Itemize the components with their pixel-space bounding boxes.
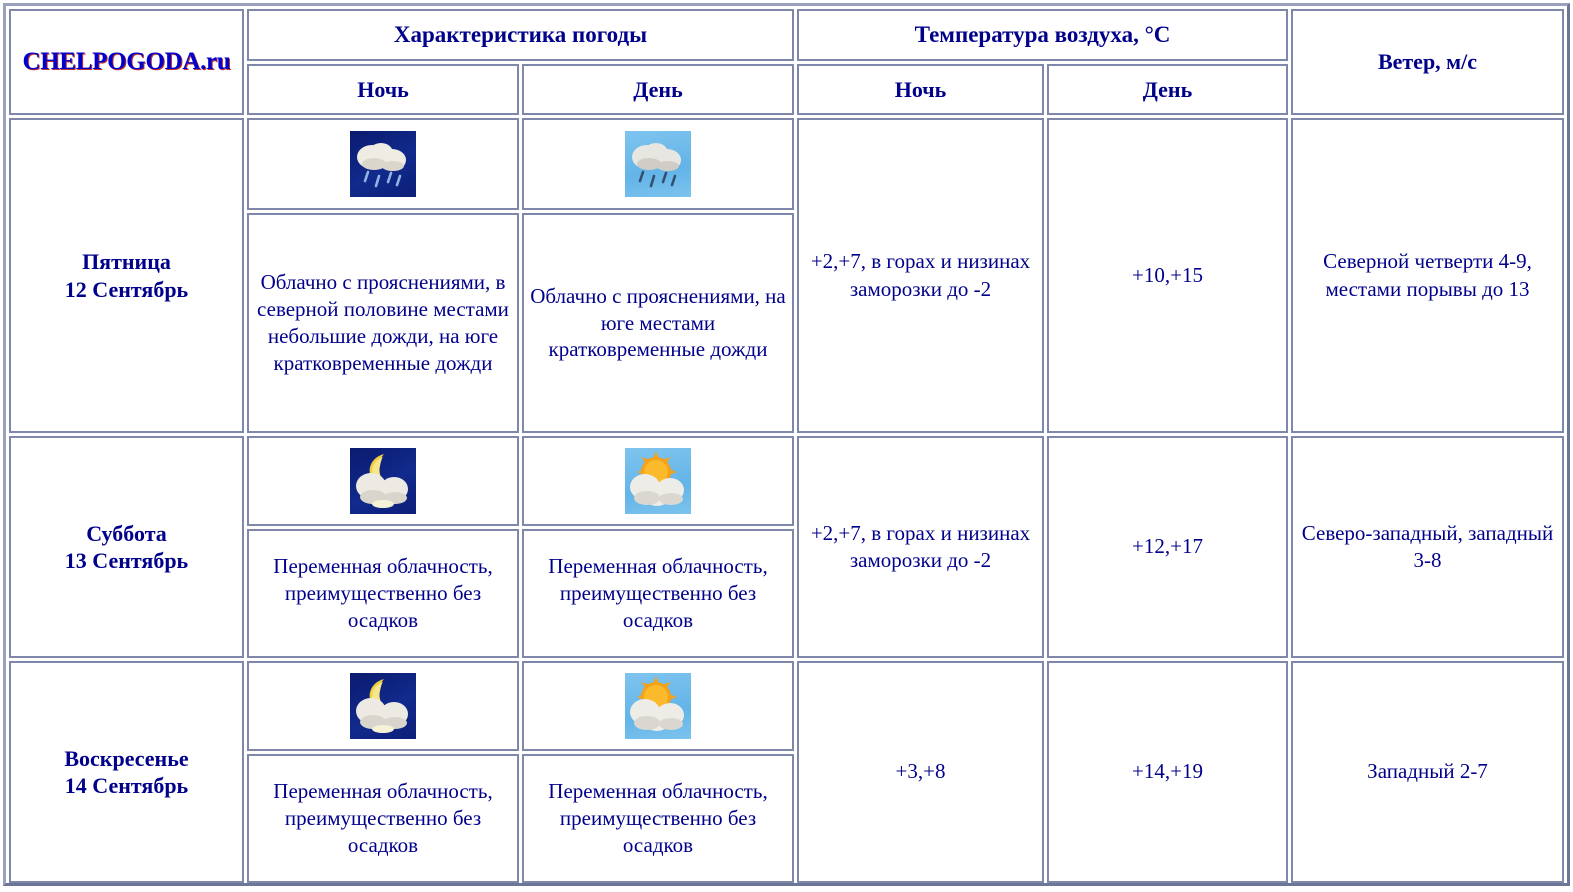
header-weather-characteristic: Характеристика погоды (247, 9, 794, 61)
temperature-night: +2,+7, в горах и низинах заморозки до -2 (797, 118, 1044, 433)
temperature-night: +2,+7, в горах и низинах заморозки до -2 (797, 436, 1044, 658)
temperature-day: +10,+15 (1047, 118, 1288, 433)
day-icon-cell (522, 118, 794, 210)
day-weather-group: Переменная облачность, преимущественно б… (522, 661, 794, 883)
night-weather-group: Переменная облачность, преимущественно б… (247, 661, 519, 883)
day-icon-cell (522, 436, 794, 526)
cloudy-rain-day-icon (625, 131, 691, 197)
day-weather-group: Облачно с прояснениями, на юге местами к… (522, 118, 794, 433)
partly-cloudy-day-icon (625, 673, 691, 739)
wind-value: Северной четверти 4-9, местами порывы до… (1291, 118, 1564, 433)
row-date: 14 Сентябрь (64, 772, 188, 800)
table-row: Суббота 13 Сентябрь (6, 436, 1567, 661)
partly-cloudy-night-icon (350, 448, 416, 514)
row-date-cell: Пятница 12 Сентябрь (9, 118, 244, 433)
night-description: Переменная облачность, преимущественно б… (247, 529, 519, 658)
weather-characteristic-group: Характеристика погоды Ночь День (247, 9, 794, 115)
night-icon-cell (247, 118, 519, 210)
day-description: Переменная облачность, преимущественно б… (522, 529, 794, 658)
row-day-name: Пятница (65, 248, 188, 276)
day-icon-cell (522, 661, 794, 751)
wind-value: Северо-западный, западный 3-8 (1291, 436, 1564, 658)
night-icon-cell (247, 436, 519, 526)
partly-cloudy-night-icon (350, 673, 416, 739)
temperature-night: +3,+8 (797, 661, 1044, 883)
wind-value: Западный 2-7 (1291, 661, 1564, 883)
table-header: CHELPOGODA.ru Характеристика погоды Ночь… (6, 6, 1567, 118)
table-row: Воскресенье 14 Сентябрь (6, 661, 1567, 886)
day-description: Переменная облачность, преимущественно б… (522, 754, 794, 883)
day-weather-group: Переменная облачность, преимущественно б… (522, 436, 794, 658)
header-weather-day: День (522, 64, 794, 115)
row-day-name: Суббота (65, 520, 188, 548)
partly-cloudy-day-icon (625, 448, 691, 514)
row-date-cell: Воскресенье 14 Сентябрь (9, 661, 244, 883)
row-date: 13 Сентябрь (65, 547, 188, 575)
night-weather-group: Облачно с прояснениями, в северной полов… (247, 118, 519, 433)
row-date: 12 Сентябрь (65, 276, 188, 304)
weather-forecast-table: CHELPOGODA.ru Характеристика погоды Ночь… (3, 3, 1570, 886)
temperature-day: +14,+19 (1047, 661, 1288, 883)
row-day-name: Воскресенье (64, 745, 188, 773)
row-date-cell: Суббота 13 Сентябрь (9, 436, 244, 658)
night-weather-group: Переменная облачность, преимущественно б… (247, 436, 519, 658)
cloudy-rain-night-icon (350, 131, 416, 197)
temperature-day: +12,+17 (1047, 436, 1288, 658)
day-description: Облачно с прояснениями, на юге местами к… (522, 213, 794, 433)
header-air-temperature: Температура воздуха, °C (797, 9, 1288, 61)
air-temperature-group: Температура воздуха, °C Ночь День (797, 9, 1288, 115)
night-description: Облачно с прояснениями, в северной полов… (247, 213, 519, 433)
night-icon-cell (247, 661, 519, 751)
header-temperature-night: Ночь (797, 64, 1044, 115)
site-logo: CHELPOGODA.ru (9, 9, 244, 115)
header-wind: Ветер, м/с (1291, 9, 1564, 115)
header-weather-night: Ночь (247, 64, 519, 115)
night-description: Переменная облачность, преимущественно б… (247, 754, 519, 883)
table-row: Пятница 12 Сентябрь (6, 118, 1567, 436)
header-temperature-day: День (1047, 64, 1288, 115)
